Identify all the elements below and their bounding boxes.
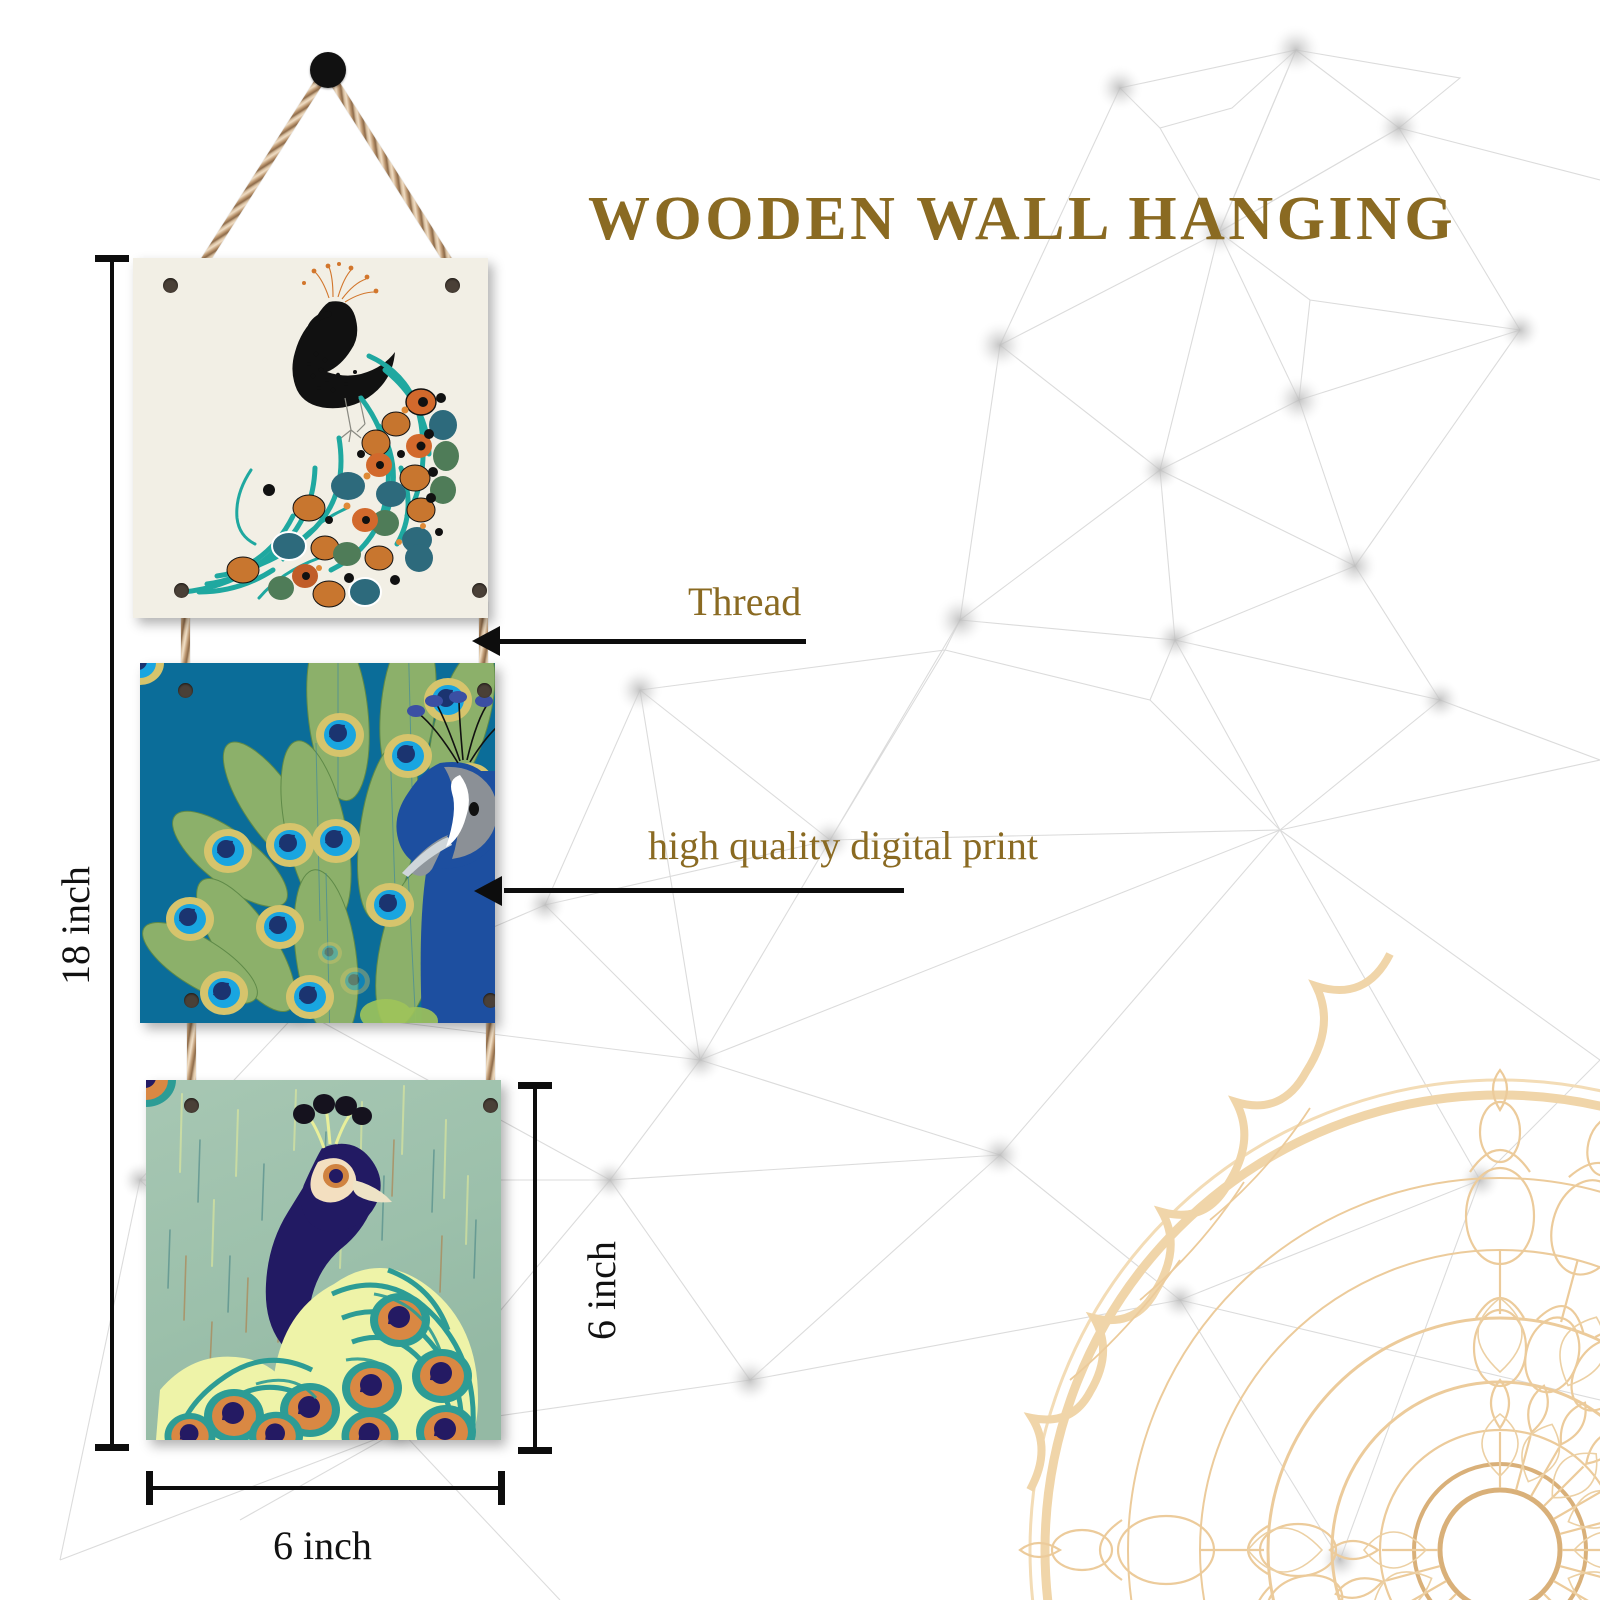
callout-arrow-icon — [472, 626, 500, 656]
nail-head-icon — [310, 52, 346, 88]
tile-hole-top-left — [163, 278, 178, 293]
tile-hole-top-right — [477, 683, 492, 698]
tile-hole-top-right — [483, 1098, 498, 1113]
product-tile-3[interactable] — [146, 1080, 501, 1440]
tile-hole-bottom-left — [174, 583, 189, 598]
dimension-cap-bottom — [518, 1447, 552, 1454]
dimension-line-vertical — [110, 258, 114, 1450]
dimension-cap-top — [518, 1082, 552, 1089]
tile-hole-bottom-right — [472, 583, 487, 598]
callout-arrow-icon — [474, 876, 502, 906]
dimension-label-tile-height: 6 inch — [578, 1241, 625, 1340]
dimension-label-height: 18 inch — [52, 866, 99, 985]
wall-hanging-product — [0, 0, 700, 1600]
rope-left-segment — [186, 68, 331, 288]
callout-label-print: high quality digital print — [648, 822, 1038, 869]
dimension-cap-top — [95, 255, 129, 262]
page-title: WOODEN WALL HANGING — [588, 188, 1588, 250]
dimension-line-horizontal — [148, 1486, 504, 1490]
product-tile-2[interactable] — [140, 663, 495, 1023]
tile-hole-top-left — [184, 1098, 199, 1113]
tile-hole-top-left — [178, 683, 193, 698]
dimension-label-tile-width: 6 inch — [273, 1522, 372, 1569]
callout-label-thread: Thread — [688, 578, 801, 625]
infographic-canvas: WOODEN WALL HANGING — [0, 0, 1600, 1600]
product-tile-1[interactable] — [133, 258, 488, 618]
callout-leader-line — [504, 888, 904, 893]
tile-hole-bottom-right — [483, 993, 495, 1008]
callout-leader-line — [500, 639, 806, 644]
dimension-line-vertical — [533, 1085, 537, 1453]
dimension-cap-bottom — [95, 1444, 129, 1451]
rope-right-segment — [323, 68, 468, 288]
dimension-cap-right — [498, 1471, 505, 1505]
tile-hole-bottom-left — [184, 993, 199, 1008]
tile-hole-top-right — [445, 278, 460, 293]
dimension-cap-left — [146, 1471, 153, 1505]
